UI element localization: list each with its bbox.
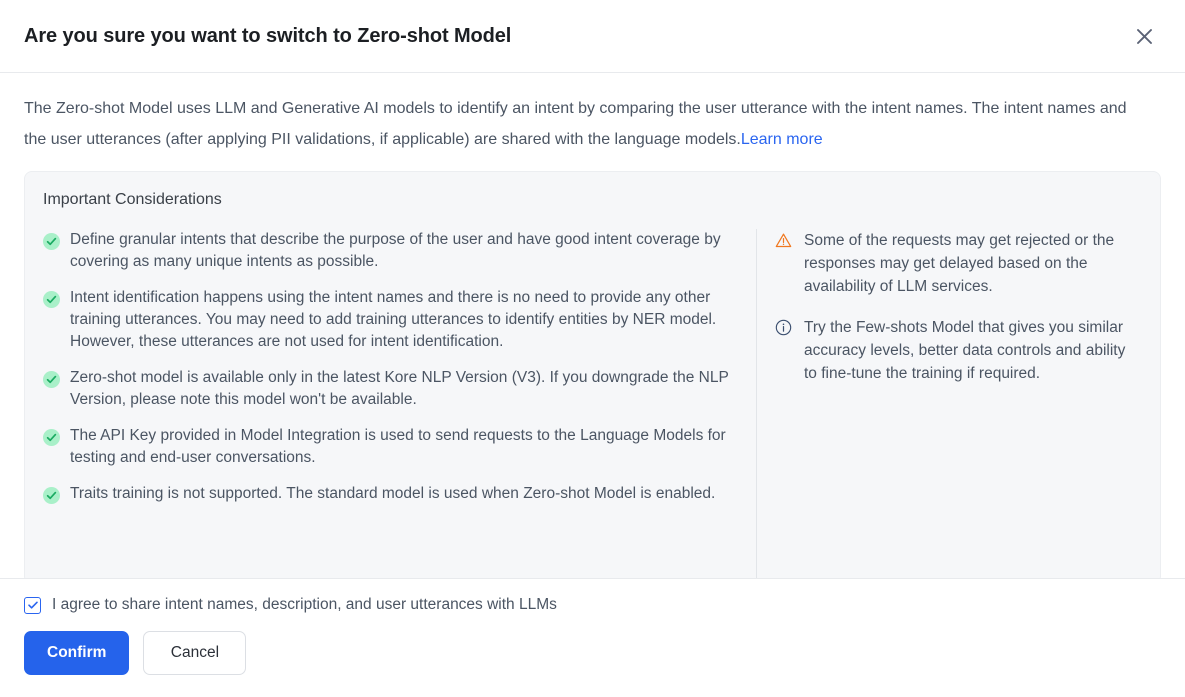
dialog-body: The Zero-shot Model uses LLM and Generat… bbox=[0, 73, 1185, 578]
close-icon[interactable] bbox=[1129, 21, 1159, 51]
learn-more-link[interactable]: Learn more bbox=[741, 131, 823, 148]
check-circle-icon bbox=[43, 291, 60, 308]
list-item-text: Some of the requests may get rejected or… bbox=[804, 229, 1136, 298]
agree-checkbox-label[interactable]: I agree to share intent names, descripti… bbox=[52, 595, 557, 615]
agree-checkbox[interactable] bbox=[24, 597, 41, 614]
list-item: Traits training is not supported. The st… bbox=[43, 483, 740, 505]
considerations-right-column: Some of the requests may get rejected or… bbox=[757, 229, 1160, 578]
cancel-button[interactable]: Cancel bbox=[143, 631, 246, 675]
list-item: Intent identification happens using the … bbox=[43, 287, 740, 353]
list-item-text: Try the Few-shots Model that gives you s… bbox=[804, 316, 1136, 385]
dialog-footer: I agree to share intent names, descripti… bbox=[0, 578, 1185, 697]
warning-triangle-icon bbox=[775, 232, 792, 249]
considerations-heading: Important Considerations bbox=[25, 190, 1160, 211]
dialog-actions: Confirm Cancel bbox=[24, 631, 1161, 675]
switch-model-dialog: Are you sure you want to switch to Zero-… bbox=[0, 0, 1185, 697]
check-circle-icon bbox=[43, 487, 60, 504]
intro-paragraph: The Zero-shot Model uses LLM and Generat… bbox=[24, 93, 1144, 155]
considerations-left-column: Define granular intents that describe th… bbox=[25, 229, 757, 578]
list-item: Define granular intents that describe th… bbox=[43, 229, 740, 273]
list-item-text: Define granular intents that describe th… bbox=[70, 229, 740, 273]
list-item-text: The API Key provided in Model Integratio… bbox=[70, 425, 740, 469]
list-item-text: Intent identification happens using the … bbox=[70, 287, 740, 353]
list-item: Some of the requests may get rejected or… bbox=[775, 229, 1136, 298]
dialog-title: Are you sure you want to switch to Zero-… bbox=[24, 24, 511, 48]
considerations-list-left: Define granular intents that describe th… bbox=[43, 229, 740, 505]
dialog-header: Are you sure you want to switch to Zero-… bbox=[0, 0, 1185, 73]
list-item: The API Key provided in Model Integratio… bbox=[43, 425, 740, 469]
agree-row: I agree to share intent names, descripti… bbox=[24, 595, 1161, 615]
list-item: Try the Few-shots Model that gives you s… bbox=[775, 316, 1136, 385]
check-circle-icon bbox=[43, 371, 60, 388]
list-item-text: Traits training is not supported. The st… bbox=[70, 483, 715, 505]
important-considerations-panel: Important Considerations Define granular… bbox=[24, 171, 1161, 578]
check-circle-icon bbox=[43, 233, 60, 250]
check-circle-icon bbox=[43, 429, 60, 446]
list-item: Zero-shot model is available only in the… bbox=[43, 367, 740, 411]
confirm-button[interactable]: Confirm bbox=[24, 631, 129, 675]
info-circle-icon bbox=[775, 319, 792, 336]
list-item-text: Zero-shot model is available only in the… bbox=[70, 367, 740, 411]
intro-text: The Zero-shot Model uses LLM and Generat… bbox=[24, 100, 1127, 148]
considerations-list-right: Some of the requests may get rejected or… bbox=[775, 229, 1136, 385]
